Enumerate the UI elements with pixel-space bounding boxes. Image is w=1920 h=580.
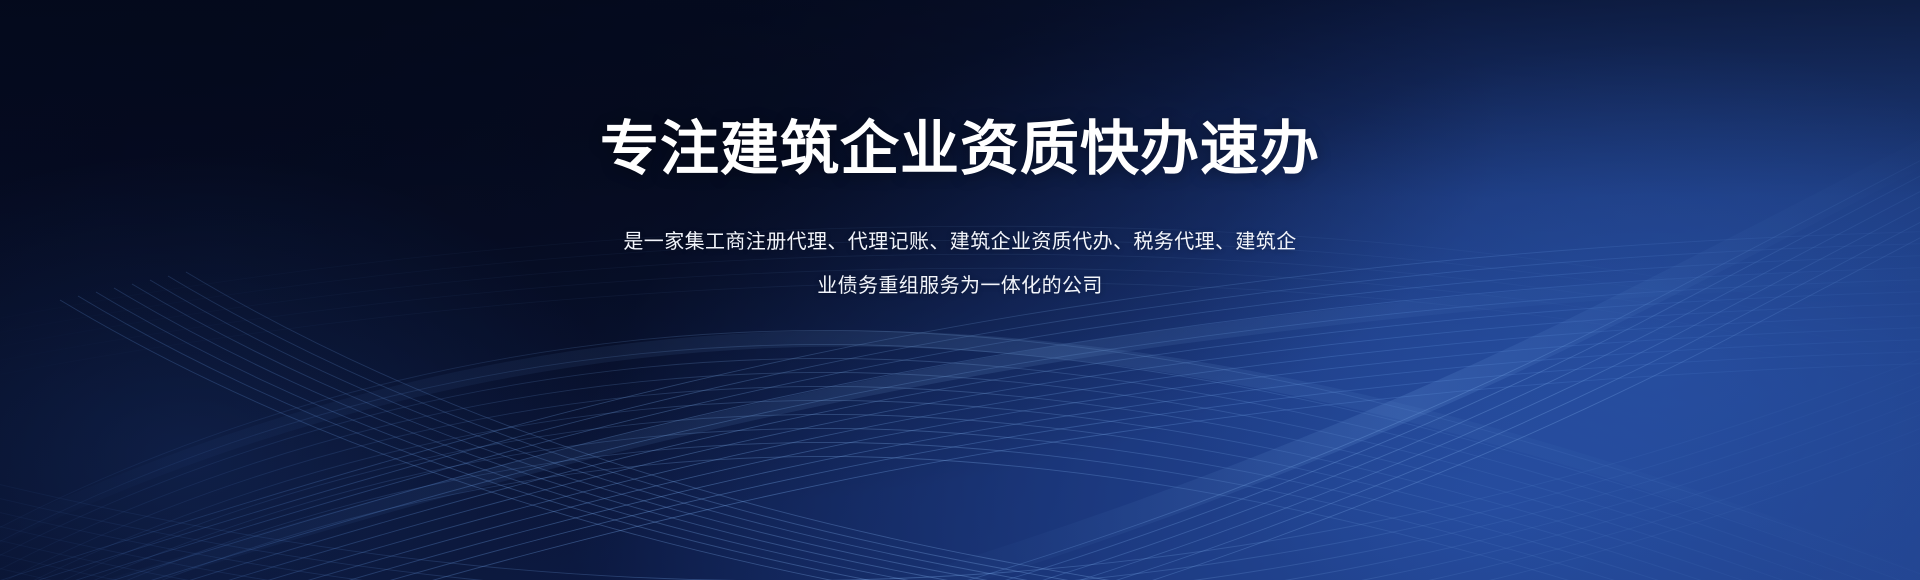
hero-text-block: 专注建筑企业资质快办速办 是一家集工商注册代理、代理记账、建筑企业资质代办、税务… <box>0 0 1920 308</box>
hero-headline: 专注建筑企业资质快办速办 <box>0 118 1920 182</box>
hero-subtitle: 是一家集工商注册代理、代理记账、建筑企业资质代办、税务代理、建筑企 业债务重组服… <box>600 220 1320 308</box>
hero-subtitle-line-1: 是一家集工商注册代理、代理记账、建筑企业资质代办、税务代理、建筑企 <box>600 220 1320 264</box>
hero-banner: 专注建筑企业资质快办速办 是一家集工商注册代理、代理记账、建筑企业资质代办、税务… <box>0 0 1920 580</box>
hero-subtitle-line-2: 业债务重组服务为一体化的公司 <box>600 264 1320 308</box>
